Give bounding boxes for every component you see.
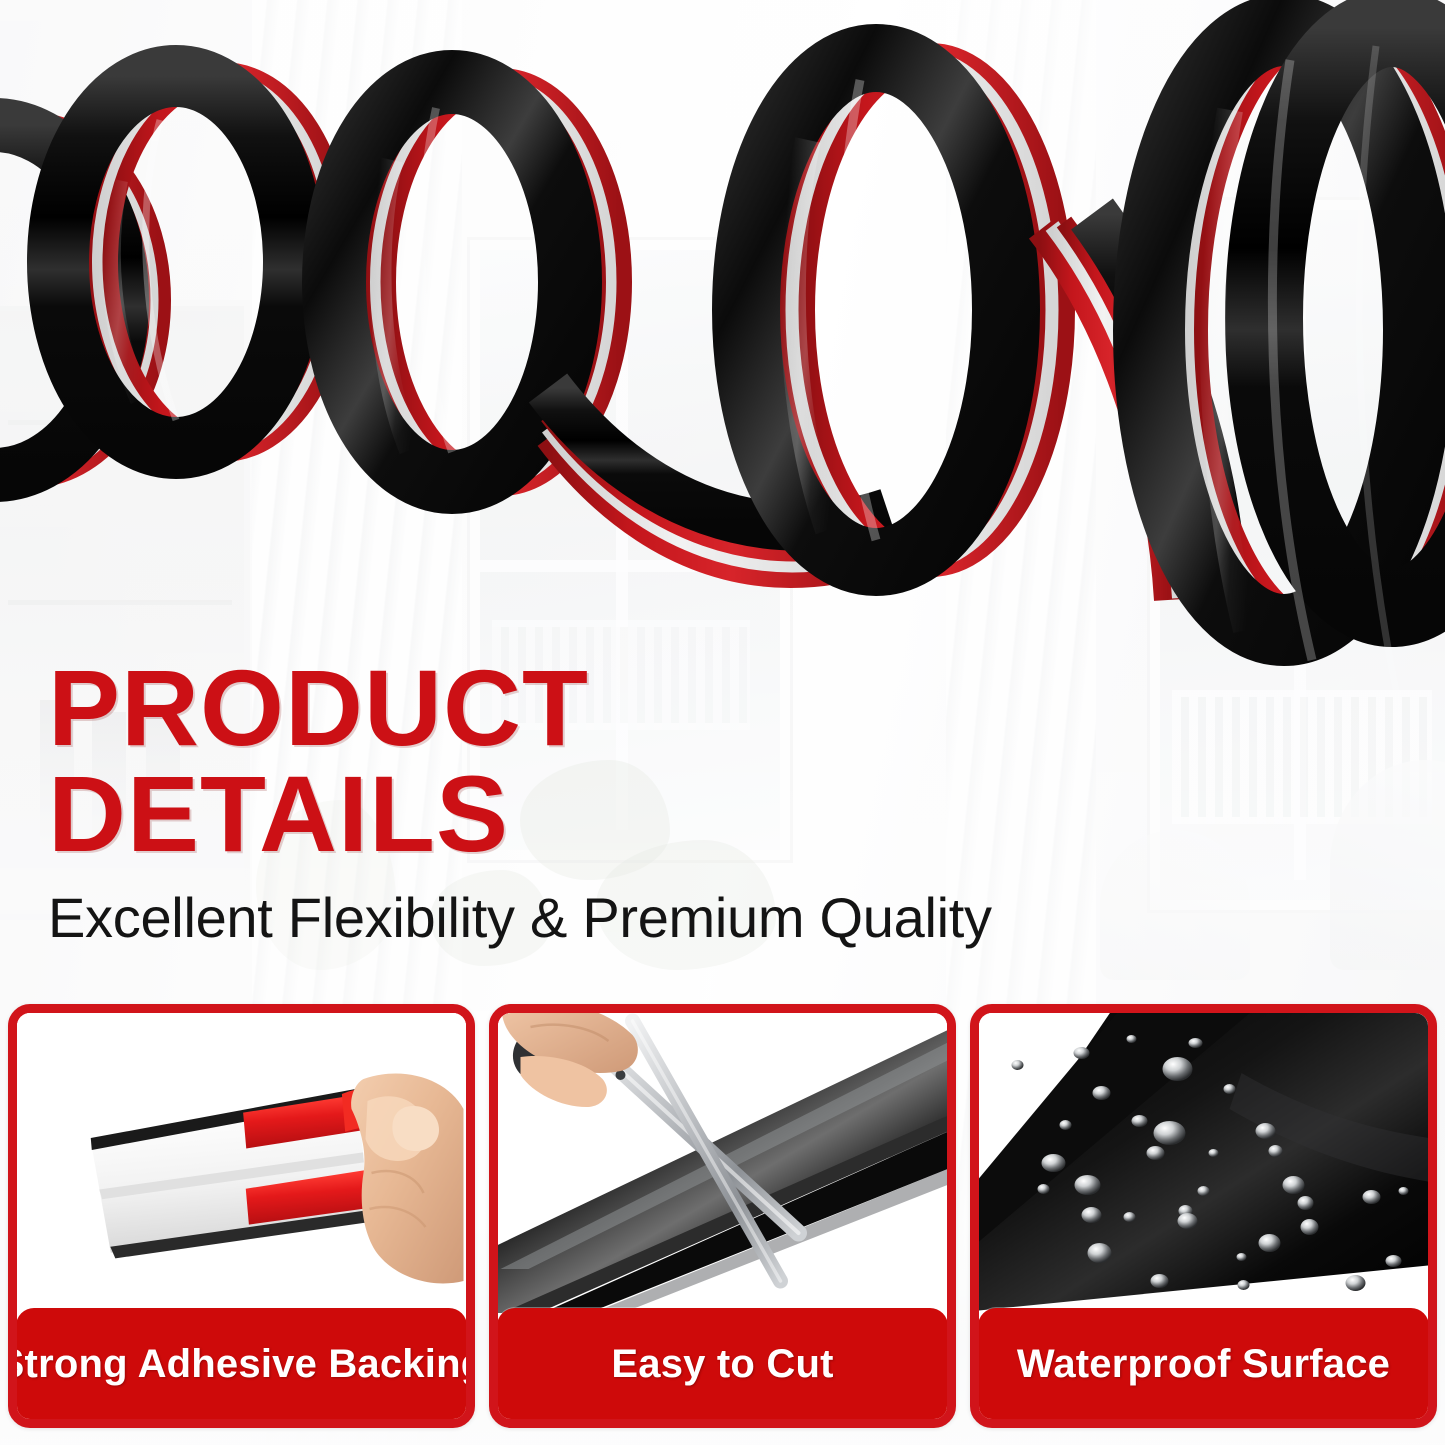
hand-peeling-red-adhesive-liner-icon xyxy=(17,1013,466,1313)
panel-caption-bar: Waterproof Surface xyxy=(978,1308,1429,1420)
panel-caption-bar: Strong Adhesive Backing xyxy=(16,1308,467,1420)
panel-caption-bar: Easy to Cut xyxy=(497,1308,948,1420)
page-title-line-1: PRODUCT xyxy=(48,647,589,768)
tape-loop-1 xyxy=(58,76,340,448)
panel-caption-text: Easy to Cut xyxy=(611,1342,833,1387)
page-title: PRODUCT DETAILS xyxy=(48,655,1198,867)
feature-panel-waterproof[interactable]: Waterproof Surface xyxy=(970,1004,1437,1428)
panel-caption-text: Waterproof Surface xyxy=(1017,1342,1390,1387)
tape-loop-3 xyxy=(746,58,1060,562)
page-title-line-2: DETAILS xyxy=(48,761,1198,867)
hero-product-image xyxy=(0,0,1445,760)
title-block: PRODUCT DETAILS Excellent Flexibility & … xyxy=(48,655,1198,947)
feature-panel-cut[interactable]: Easy to Cut xyxy=(489,1004,956,1428)
water-droplets-on-black-surface-icon xyxy=(979,1013,1428,1313)
product-detail-infographic: PRODUCT DETAILS Excellent Flexibility & … xyxy=(0,0,1445,1445)
page-subtitle: Excellent Flexibility & Premium Quality xyxy=(48,889,1198,948)
feature-panel-adhesive[interactable]: Strong Adhesive Backing xyxy=(8,1004,475,1428)
tape-loop-right xyxy=(1149,28,1445,700)
feature-panel-row: Strong Adhesive Backing xyxy=(8,1004,1437,1428)
panel-caption-text: Strong Adhesive Backing xyxy=(8,1342,475,1387)
scissors-cutting-black-trim-icon xyxy=(498,1013,947,1313)
